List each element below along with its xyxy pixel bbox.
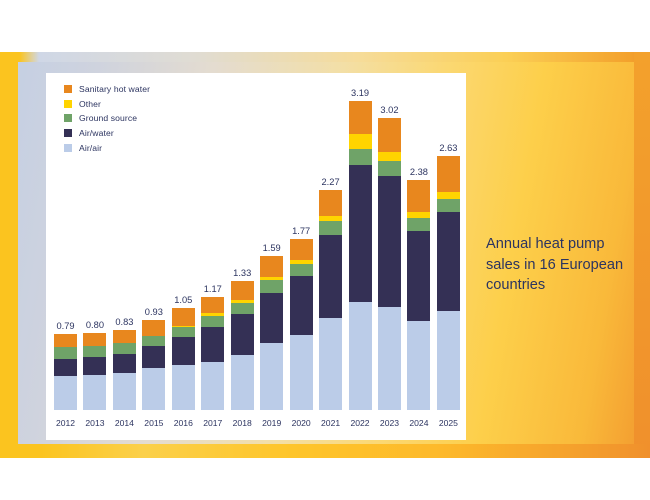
bar-segment bbox=[407, 321, 430, 410]
bar-segment bbox=[290, 335, 313, 410]
bar-segment bbox=[437, 156, 460, 193]
bar-segment bbox=[142, 368, 165, 410]
bar-segment bbox=[260, 293, 283, 343]
bar-segment bbox=[378, 161, 401, 176]
bar-segment bbox=[319, 221, 342, 235]
bar-segment bbox=[319, 235, 342, 318]
bar-segment bbox=[407, 212, 430, 219]
bar-segment bbox=[290, 276, 313, 334]
bar-segment bbox=[172, 327, 195, 338]
chart-plot-area: 0.790.800.830.931.051.171.331.591.772.27… bbox=[54, 81, 460, 410]
bar-segment bbox=[113, 330, 136, 344]
frame-border-top bbox=[0, 52, 650, 62]
bar-column[interactable]: 0.79 bbox=[54, 81, 77, 410]
bar-column[interactable]: 3.02 bbox=[378, 81, 401, 410]
bar-value-label: 1.17 bbox=[195, 284, 230, 294]
bar-column[interactable]: 2.63 bbox=[437, 81, 460, 410]
bar-segment bbox=[231, 281, 254, 299]
x-axis-tick-label: 2020 bbox=[290, 418, 313, 428]
bar-value-label: 3.19 bbox=[343, 88, 378, 98]
bar-segment bbox=[260, 280, 283, 293]
bar-value-label: 0.93 bbox=[136, 307, 171, 317]
bar-segment bbox=[319, 318, 342, 410]
bar-value-label: 2.27 bbox=[313, 177, 348, 187]
bar-segment bbox=[407, 218, 430, 231]
bar-column[interactable]: 2.27 bbox=[319, 81, 342, 410]
x-axis-tick-label: 2018 bbox=[231, 418, 254, 428]
bar-segment bbox=[378, 176, 401, 308]
bar-stack bbox=[231, 281, 254, 410]
bar-segment bbox=[260, 256, 283, 277]
bar-segment bbox=[172, 308, 195, 325]
x-axis-tick-label: 2024 bbox=[407, 418, 430, 428]
bar-stack bbox=[290, 239, 313, 410]
frame-border-right bbox=[634, 52, 650, 458]
bar-column[interactable]: 1.05 bbox=[172, 81, 195, 410]
bar-segment bbox=[201, 327, 224, 362]
bar-segment bbox=[142, 336, 165, 347]
bar-segment bbox=[378, 118, 401, 152]
bar-segment bbox=[172, 365, 195, 410]
bar-stack bbox=[319, 190, 342, 410]
bar-column[interactable]: 1.17 bbox=[201, 81, 224, 410]
bar-segment bbox=[231, 303, 254, 315]
x-axis-tick-labels: 2012201320142015201620172018201920202021… bbox=[54, 412, 460, 434]
bar-segment bbox=[349, 165, 372, 301]
bar-segment bbox=[231, 314, 254, 355]
bar-stack bbox=[172, 308, 195, 410]
x-axis-tick-label: 2016 bbox=[172, 418, 195, 428]
bar-segment bbox=[172, 337, 195, 364]
bar-value-label: 1.59 bbox=[254, 243, 289, 253]
bar-stack bbox=[113, 330, 136, 410]
bar-stack bbox=[83, 333, 106, 410]
bar-segment bbox=[54, 347, 77, 359]
x-axis-tick-label: 2015 bbox=[142, 418, 165, 428]
bar-segment bbox=[349, 101, 372, 134]
bar-segment bbox=[260, 343, 283, 410]
bar-value-label: 1.33 bbox=[225, 268, 260, 278]
bar-column[interactable]: 0.83 bbox=[113, 81, 136, 410]
bar-value-label: 1.77 bbox=[284, 226, 319, 236]
bar-segment bbox=[437, 199, 460, 212]
bar-segment bbox=[201, 297, 224, 313]
bar-stack bbox=[142, 320, 165, 410]
bar-segment bbox=[437, 212, 460, 312]
x-axis-tick-label: 2014 bbox=[113, 418, 136, 428]
bar-segment bbox=[231, 355, 254, 410]
bar-segment bbox=[83, 375, 106, 410]
bar-stack bbox=[378, 118, 401, 410]
bar-segment bbox=[290, 239, 313, 260]
bar-value-label: 3.02 bbox=[372, 105, 407, 115]
bar-value-label: 0.83 bbox=[107, 317, 142, 327]
bar-segment bbox=[319, 190, 342, 215]
bar-segment bbox=[378, 307, 401, 410]
bar-column[interactable]: 0.80 bbox=[83, 81, 106, 410]
bar-value-label: 2.63 bbox=[431, 143, 466, 153]
bar-column[interactable]: 1.77 bbox=[290, 81, 313, 410]
bar-column[interactable]: 0.93 bbox=[142, 81, 165, 410]
bar-column[interactable]: 3.19 bbox=[349, 81, 372, 410]
x-axis-tick-label: 2013 bbox=[83, 418, 106, 428]
bar-column[interactable]: 1.59 bbox=[260, 81, 283, 410]
x-axis-tick-label: 2019 bbox=[260, 418, 283, 428]
bar-stack bbox=[54, 334, 77, 410]
x-axis-tick-label: 2023 bbox=[378, 418, 401, 428]
x-axis-tick-label: 2012 bbox=[54, 418, 77, 428]
bar-segment bbox=[437, 192, 460, 199]
bar-segment bbox=[349, 302, 372, 410]
bar-segment bbox=[201, 362, 224, 410]
bar-stack bbox=[407, 180, 430, 410]
ehpa-logo: ehpa bbox=[500, 456, 612, 458]
bar-segment bbox=[113, 354, 136, 373]
bar-stack bbox=[201, 297, 224, 410]
bar-segment bbox=[113, 343, 136, 354]
bar-segment bbox=[349, 134, 372, 149]
slide-root: Sanitary hot waterOtherGround sourceAir/… bbox=[0, 0, 650, 500]
bar-column[interactable]: 2.38 bbox=[407, 81, 430, 410]
bar-segment bbox=[113, 373, 136, 410]
bar-segment bbox=[83, 357, 106, 375]
bar-segment bbox=[378, 152, 401, 162]
bar-stack bbox=[437, 156, 460, 410]
x-axis-tick-label: 2022 bbox=[349, 418, 372, 428]
bar-series-container: 0.790.800.830.931.051.171.331.591.772.27… bbox=[54, 81, 460, 410]
chart-panel: Sanitary hot waterOtherGround sourceAir/… bbox=[46, 73, 466, 440]
bar-segment bbox=[407, 180, 430, 212]
bar-segment bbox=[407, 231, 430, 321]
bar-stack bbox=[349, 101, 372, 410]
bar-column[interactable]: 1.33 bbox=[231, 81, 254, 410]
slide-frame: Sanitary hot waterOtherGround sourceAir/… bbox=[0, 52, 650, 458]
bar-segment bbox=[142, 320, 165, 335]
bar-segment bbox=[83, 346, 106, 357]
bar-segment bbox=[142, 346, 165, 368]
frame-border-left bbox=[0, 52, 18, 458]
bar-segment bbox=[290, 264, 313, 277]
bar-segment bbox=[201, 316, 224, 327]
x-axis-tick-label: 2017 bbox=[201, 418, 224, 428]
x-axis-tick-label: 2025 bbox=[437, 418, 460, 428]
bar-segment bbox=[349, 149, 372, 165]
bar-segment bbox=[54, 359, 77, 376]
bar-value-label: 1.05 bbox=[166, 295, 201, 305]
bar-segment bbox=[83, 333, 106, 347]
x-axis-tick-label: 2021 bbox=[319, 418, 342, 428]
chart-caption: Annual heat pump sales in 16 European co… bbox=[486, 234, 626, 296]
bar-segment bbox=[54, 376, 77, 410]
bar-segment bbox=[54, 334, 77, 348]
bar-stack bbox=[260, 256, 283, 410]
bar-segment bbox=[437, 311, 460, 410]
bar-value-label: 2.38 bbox=[401, 167, 436, 177]
